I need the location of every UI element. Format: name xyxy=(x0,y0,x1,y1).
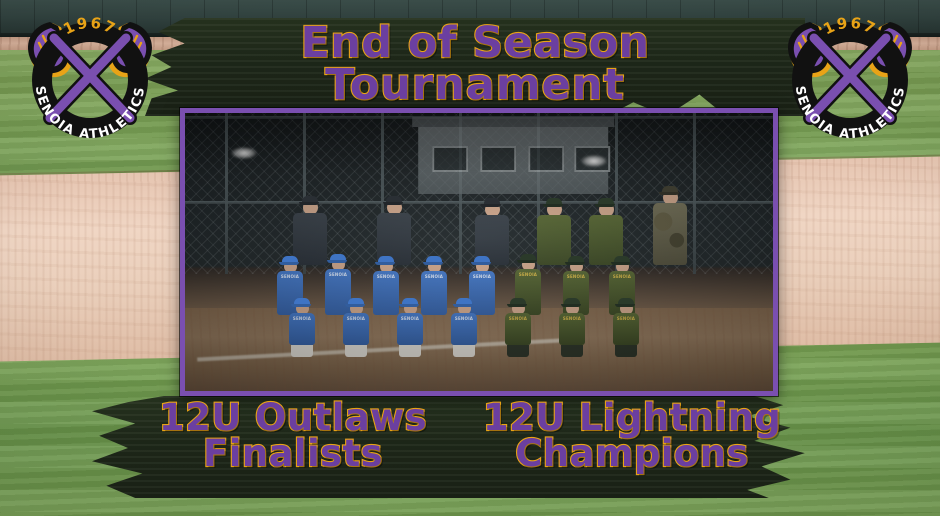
cap xyxy=(456,298,472,305)
cap xyxy=(282,256,298,263)
cap xyxy=(294,298,310,305)
jersey: SENOIA xyxy=(559,313,585,345)
jersey-wordmark: SENOIA xyxy=(515,269,541,277)
legs xyxy=(399,345,421,357)
jersey-wordmark: SENOIA xyxy=(613,313,639,321)
senoia-athletics-logo-right: 1967 SENOIA ATHLETICS xyxy=(770,8,930,143)
jersey-wordmark: SENOIA xyxy=(277,271,303,279)
outlaws-team-name: 12U Outlaws xyxy=(118,400,468,436)
stadium-light-glow xyxy=(581,155,607,167)
cap xyxy=(618,298,634,305)
jersey-wordmark: SENOIA xyxy=(289,313,315,321)
cap xyxy=(330,254,346,261)
jersey-wordmark: SENOIA xyxy=(609,271,635,279)
jersey-wordmark: SENOIA xyxy=(373,271,399,279)
outlaws-result: 12U Outlaws Finalists xyxy=(118,400,468,473)
player-figure: SENOIA xyxy=(289,298,315,357)
cap xyxy=(402,298,418,305)
press-box-roof xyxy=(412,117,614,127)
title-line-1: End of Season xyxy=(190,22,760,64)
legs xyxy=(453,345,475,357)
team-photo-image: SENOIA SENOIA SENOIA xyxy=(185,113,773,391)
lightning-placement: Champions xyxy=(452,436,812,472)
lightning-team-name: 12U Lightning xyxy=(452,400,812,436)
page-title: End of Season Tournament xyxy=(190,22,760,106)
jersey-wordmark: SENOIA xyxy=(397,313,423,321)
outlaws-placement: Finalists xyxy=(118,436,468,472)
photo-row-kneeling: SENOIA SENOIA SENOIA xyxy=(185,291,773,357)
player-figure: SENOIA xyxy=(505,298,531,357)
cap xyxy=(378,256,394,263)
team-photo-frame: SENOIA SENOIA SENOIA xyxy=(180,108,778,396)
senoia-athletics-logo-left: 1967 SENOIA ATHLETICS xyxy=(10,8,170,143)
jersey: SENOIA xyxy=(343,313,369,345)
jersey: SENOIA xyxy=(397,313,423,345)
jersey-wordmark: SENOIA xyxy=(343,313,369,321)
cap xyxy=(348,298,364,305)
cap xyxy=(662,186,678,193)
player-figure: SENOIA xyxy=(451,298,477,357)
cap xyxy=(520,254,536,261)
press-box-window xyxy=(432,146,468,172)
cap xyxy=(484,198,500,205)
jersey: SENOIA xyxy=(289,313,315,345)
cap xyxy=(564,298,580,305)
lightning-result: 12U Lightning Champions xyxy=(452,400,812,473)
press-box-window xyxy=(528,146,564,172)
jersey-wordmark: SENOIA xyxy=(505,313,531,321)
cap xyxy=(386,196,402,203)
player-figure: SENOIA xyxy=(397,298,423,357)
cap xyxy=(510,298,526,305)
cap xyxy=(302,196,318,203)
legs xyxy=(561,345,583,357)
cap xyxy=(474,256,490,263)
stadium-light-glow xyxy=(231,147,257,159)
jersey-wordmark: SENOIA xyxy=(559,313,585,321)
cap xyxy=(568,256,584,263)
banner-graphic: SENOIA SENOIA SENOIA xyxy=(0,0,940,516)
player-figure: SENOIA xyxy=(343,298,369,357)
jersey-wordmark: SENOIA xyxy=(325,269,351,277)
press-box-window xyxy=(480,146,516,172)
player-figure: SENOIA xyxy=(559,298,585,357)
legs xyxy=(615,345,637,357)
jersey-wordmark: SENOIA xyxy=(421,271,447,279)
player-figure: SENOIA xyxy=(613,298,639,357)
jersey: SENOIA xyxy=(451,313,477,345)
legs xyxy=(507,345,529,357)
cap xyxy=(426,256,442,263)
title-line-2: Tournament xyxy=(190,64,760,106)
jersey: SENOIA xyxy=(613,313,639,345)
jersey-wordmark: SENOIA xyxy=(451,313,477,321)
jersey-wordmark: SENOIA xyxy=(469,271,495,279)
cap xyxy=(546,198,562,205)
jersey-wordmark: SENOIA xyxy=(563,271,589,279)
jersey: SENOIA xyxy=(505,313,531,345)
legs xyxy=(345,345,367,357)
legs xyxy=(291,345,313,357)
cap xyxy=(598,198,614,205)
cap xyxy=(614,256,630,263)
